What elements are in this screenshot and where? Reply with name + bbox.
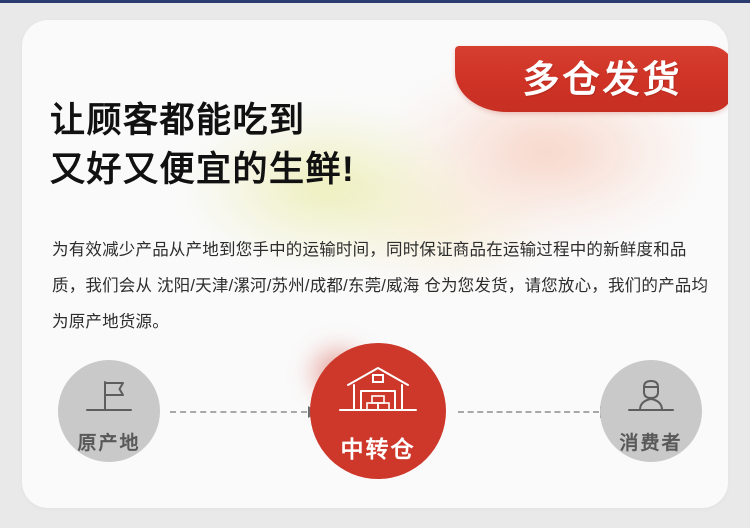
connector-origin-to-warehouse bbox=[170, 407, 318, 416]
flow-node-consumer-label: 消费者 bbox=[619, 428, 682, 455]
flow-node-warehouse: 中转仓 bbox=[310, 343, 446, 479]
connector-dashed-line bbox=[170, 411, 307, 413]
description-paragraph: 为有效减少产品从产地到您手中的运输时间，同时保证商品在运输过程中的新鲜度和品质，… bbox=[52, 232, 712, 340]
promo-card: 多仓发货 让顾客都能吃到 又好又便宜的生鲜! 为有效减少产品从产地到您手中的运输… bbox=[22, 20, 728, 508]
connector-warehouse-to-consumer bbox=[458, 407, 610, 416]
headline-block: 让顾客都能吃到 又好又便宜的生鲜! bbox=[50, 96, 470, 194]
connector-dashed-line bbox=[458, 411, 599, 413]
flag-icon bbox=[81, 374, 137, 422]
flow-node-consumer: 消费者 bbox=[600, 360, 702, 462]
flow-node-origin-circle: 原产地 bbox=[58, 360, 160, 462]
logistics-flow-diagram: 原产地 bbox=[22, 360, 728, 500]
flow-node-consumer-circle: 消费者 bbox=[600, 360, 702, 462]
flow-node-origin: 原产地 bbox=[58, 360, 160, 462]
banner-label: 多仓发货 bbox=[507, 61, 683, 98]
flow-node-warehouse-label: 中转仓 bbox=[341, 430, 416, 464]
page-top-strip bbox=[0, 0, 750, 3]
headline-line-2: 又好又便宜的生鲜! bbox=[50, 145, 470, 194]
flow-node-origin-label: 原产地 bbox=[77, 428, 140, 455]
flow-node-warehouse-circle: 中转仓 bbox=[310, 343, 446, 479]
warehouse-icon bbox=[338, 363, 418, 421]
multi-warehouse-banner: 多仓发货 bbox=[455, 46, 728, 112]
person-icon bbox=[623, 374, 679, 422]
headline-line-1: 让顾客都能吃到 bbox=[50, 96, 470, 145]
